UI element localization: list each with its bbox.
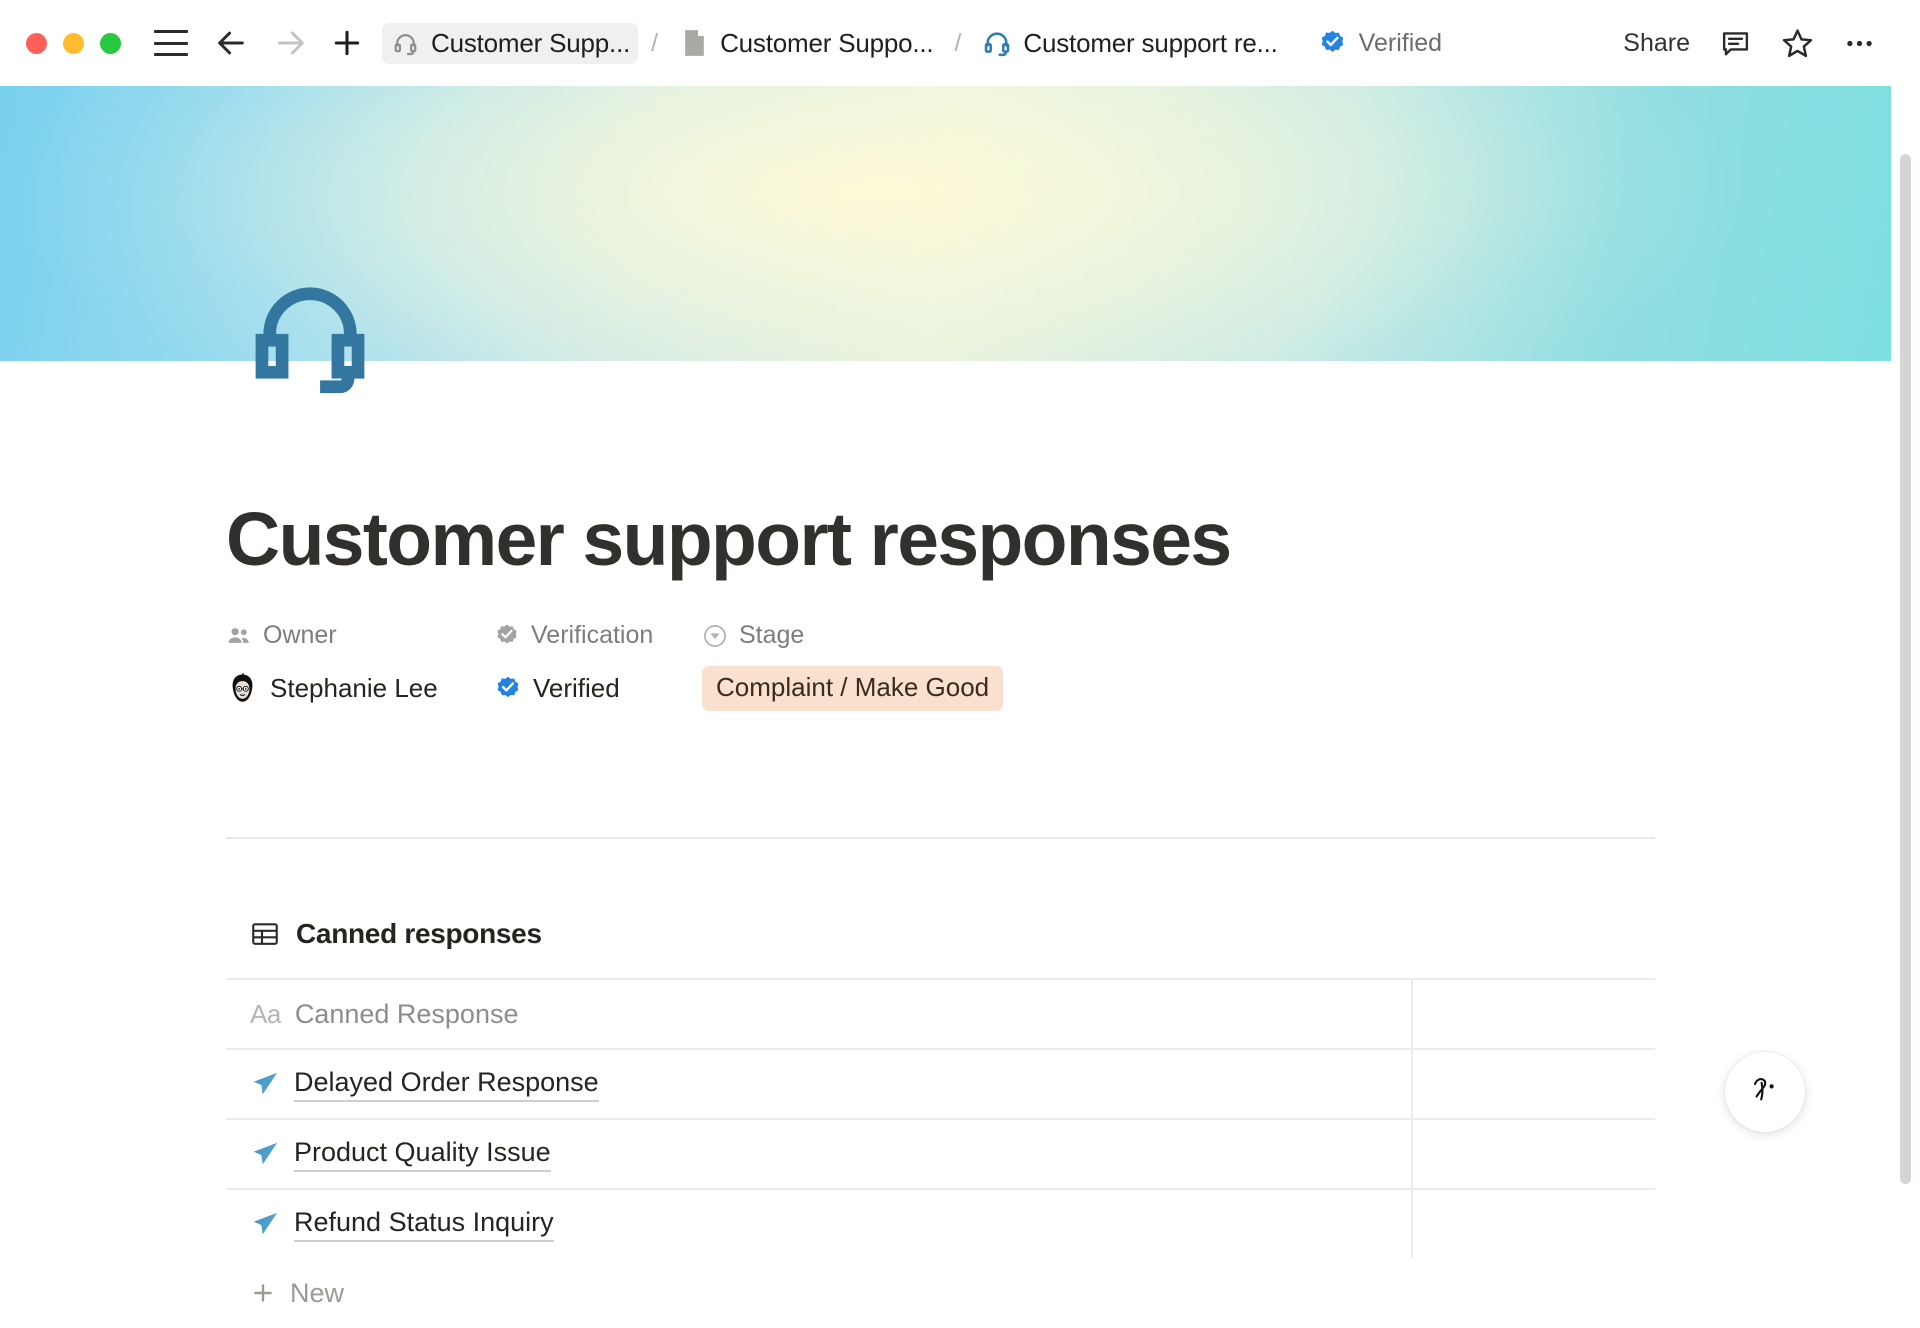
- breadcrumb-item-2[interactable]: Customer support re...: [974, 23, 1285, 64]
- maximize-window-button[interactable]: [100, 33, 121, 54]
- property-label-owner[interactable]: Owner: [226, 621, 494, 650]
- verified-label: Verified: [1359, 29, 1442, 58]
- minimize-window-button[interactable]: [63, 33, 84, 54]
- paper-plane-icon: [250, 1139, 280, 1169]
- breadcrumb-separator: /: [638, 29, 671, 58]
- avatar: [226, 672, 259, 705]
- hamburger-line: [154, 30, 188, 33]
- star-icon: [1781, 27, 1814, 60]
- property-label-verification[interactable]: Verification: [494, 621, 702, 650]
- share-button[interactable]: Share: [1609, 23, 1704, 64]
- table-cell-title[interactable]: Delayed Order Response: [226, 1050, 1413, 1118]
- hamburger-menu-icon[interactable]: [154, 30, 188, 56]
- more-horizontal-icon: [1843, 27, 1876, 60]
- table-icon: [250, 919, 280, 949]
- property-label-text: Owner: [263, 621, 337, 650]
- property-value-owner[interactable]: Stephanie Lee: [226, 672, 494, 705]
- breadcrumb-label: Customer support re...: [1023, 28, 1277, 59]
- vertical-scrollbar-thumb[interactable]: [1900, 154, 1911, 1184]
- table-row[interactable]: Delayed Order Response: [226, 1048, 1655, 1118]
- column-header-label: Canned Response: [295, 999, 519, 1030]
- row-title-link[interactable]: Delayed Order Response: [294, 1067, 599, 1102]
- page-body: Customer support responses Owner Verific…: [0, 86, 1891, 1200]
- select-icon: [702, 623, 728, 649]
- status-badge: Complaint / Make Good: [702, 666, 1003, 711]
- toolbar-actions: Share: [1609, 21, 1920, 65]
- breadcrumb-separator: /: [941, 29, 974, 58]
- arrow-right-icon: [274, 26, 308, 60]
- property-label-text: Stage: [739, 621, 804, 650]
- new-page-button[interactable]: [330, 26, 364, 60]
- column-header-canned-response[interactable]: Aa Canned Response: [226, 980, 1413, 1048]
- table-header-row: Aa Canned Response: [226, 978, 1655, 1048]
- document-icon: [679, 28, 709, 58]
- property-value-verification[interactable]: Verified: [494, 673, 702, 704]
- hamburger-line: [154, 42, 188, 45]
- property-label-stage[interactable]: Stage: [702, 621, 1003, 650]
- table-cell-empty[interactable]: [1413, 1190, 1655, 1258]
- people-icon: [226, 623, 252, 649]
- property-label-text: Verification: [531, 621, 653, 650]
- breadcrumb: Customer Supp... / Customer Suppo... /: [382, 23, 1286, 64]
- verified-gray-icon: [494, 623, 520, 649]
- page-title[interactable]: Customer support responses: [226, 496, 1230, 582]
- row-title-link[interactable]: Refund Status Inquiry: [294, 1207, 554, 1242]
- paper-plane-icon: [250, 1209, 280, 1239]
- favorite-button[interactable]: [1766, 21, 1828, 65]
- table-cell-title[interactable]: Refund Status Inquiry: [226, 1190, 1413, 1258]
- breadcrumb-label: Customer Supp...: [431, 28, 630, 59]
- headset-icon: [248, 271, 372, 395]
- comment-icon: [1720, 28, 1751, 59]
- table-cell-title[interactable]: Product Quality Issue: [226, 1120, 1413, 1188]
- row-title-link[interactable]: Product Quality Issue: [294, 1137, 551, 1172]
- database-name: Canned responses: [296, 918, 542, 950]
- table-cell-empty[interactable]: [1413, 1050, 1655, 1118]
- breadcrumb-label: Customer Suppo...: [720, 28, 933, 59]
- table-row[interactable]: Product Quality Issue: [226, 1118, 1655, 1188]
- verified-badge-icon: [494, 675, 522, 703]
- add-new-row-button[interactable]: New: [226, 1258, 1655, 1328]
- breadcrumb-item-1[interactable]: Customer Suppo...: [671, 23, 941, 64]
- table-row[interactable]: Refund Status Inquiry: [226, 1188, 1655, 1258]
- back-navigation-button[interactable]: [214, 26, 248, 60]
- property-value-text: Verified: [533, 673, 620, 704]
- arrow-left-icon: [214, 26, 248, 60]
- window-titlebar: Customer Supp... / Customer Suppo... /: [0, 0, 1920, 86]
- text-type-icon: Aa: [250, 999, 281, 1030]
- headset-icon: [982, 28, 1012, 58]
- comment-button[interactable]: [1704, 21, 1766, 65]
- traffic-light-controls: [26, 33, 121, 54]
- add-new-row-label: New: [290, 1278, 344, 1309]
- status-badge[interactable]: Verified: [1318, 29, 1442, 58]
- ai-assistant-button[interactable]: [1725, 1052, 1805, 1132]
- close-window-button[interactable]: [26, 33, 47, 54]
- breadcrumb-item-0[interactable]: Customer Supp...: [382, 23, 638, 64]
- plus-icon: [331, 27, 363, 59]
- table-cell-empty[interactable]: [1413, 1120, 1655, 1188]
- paper-plane-icon: [250, 1069, 280, 1099]
- content-divider: [226, 837, 1655, 839]
- plus-icon: [250, 1280, 276, 1306]
- column-header-empty[interactable]: [1413, 980, 1655, 1048]
- ai-assistant-icon: [1743, 1070, 1787, 1114]
- property-value-text: Stephanie Lee: [270, 673, 438, 704]
- verified-badge-icon: [1318, 29, 1347, 58]
- property-value-stage[interactable]: Complaint / Make Good: [702, 666, 1003, 711]
- hamburger-line: [154, 53, 188, 56]
- page-icon[interactable]: [248, 271, 372, 395]
- database-title[interactable]: Canned responses: [250, 918, 542, 950]
- headset-icon: [390, 28, 420, 58]
- vertical-scrollbar-track[interactable]: [1891, 86, 1920, 1200]
- page-properties: Owner Verification Stage: [226, 621, 1003, 711]
- forward-navigation-button[interactable]: [274, 26, 308, 60]
- more-options-button[interactable]: [1828, 21, 1890, 65]
- database-table: Aa Canned Response Delayed Order Respons…: [226, 978, 1655, 1328]
